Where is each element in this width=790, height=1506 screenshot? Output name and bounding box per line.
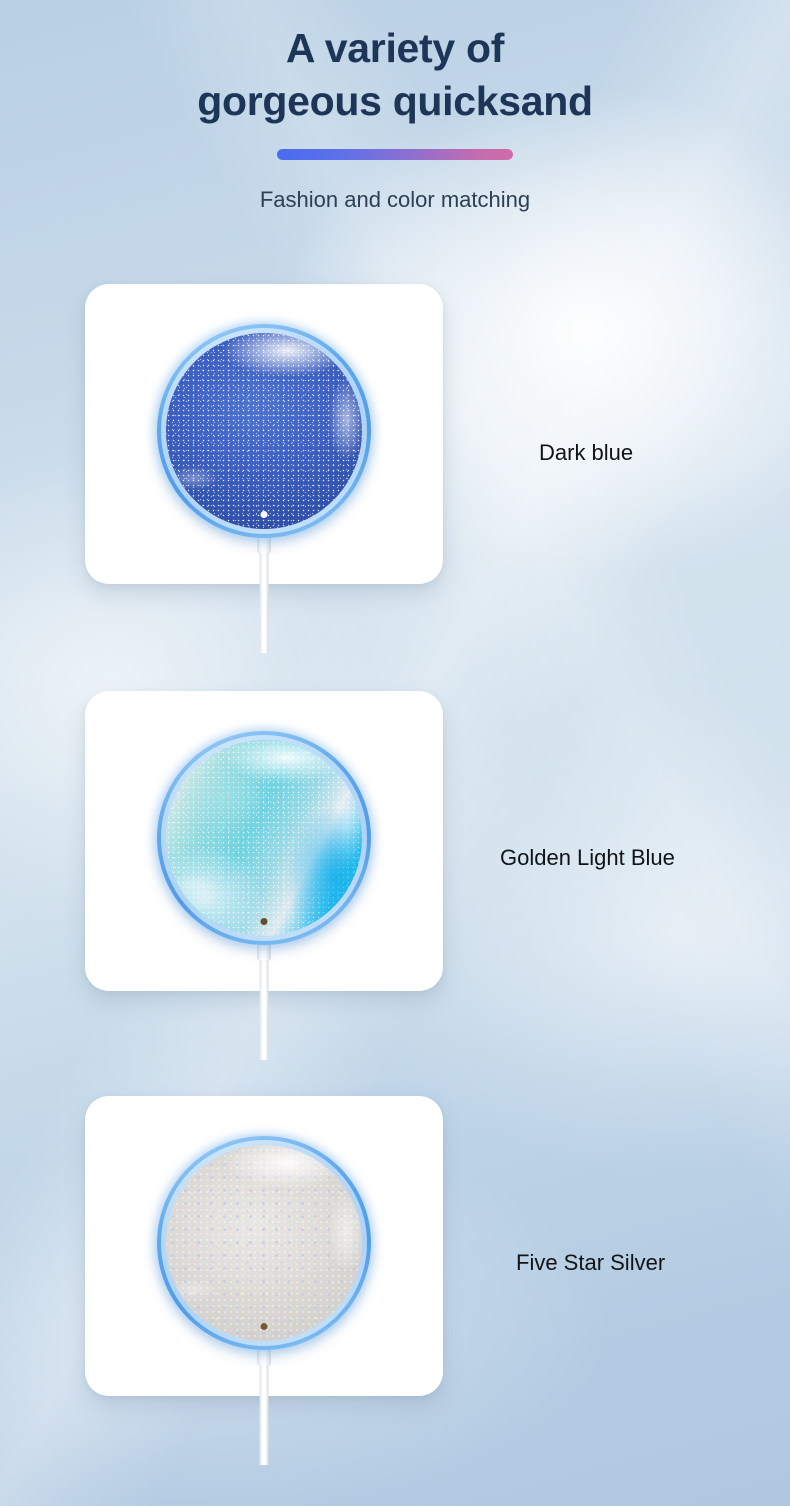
- indicator-led: [261, 511, 268, 518]
- product-card[interactable]: [85, 284, 443, 584]
- product-label: Golden Light Blue: [500, 845, 675, 871]
- product-label: Five Star Silver: [516, 1250, 665, 1276]
- charger-face: [166, 740, 362, 936]
- indicator-led: [261, 918, 268, 925]
- wireless-charger-puck: [157, 324, 371, 538]
- page-title: A variety of gorgeous quicksand: [0, 22, 790, 129]
- product-image: [85, 284, 443, 584]
- page-title-line-1: A variety of: [0, 22, 790, 75]
- glitter-texture: [166, 740, 362, 936]
- gloss-highlight: [166, 740, 362, 936]
- wireless-charger-puck: [157, 731, 371, 945]
- page-subtitle: Fashion and color matching: [0, 187, 790, 213]
- page-title-line-2: gorgeous quicksand: [0, 75, 790, 128]
- wireless-charger-puck: [157, 1136, 371, 1350]
- product-card[interactable]: [85, 1096, 443, 1396]
- product-card[interactable]: [85, 691, 443, 991]
- charger-face: [166, 1145, 362, 1341]
- title-underline-bar: [277, 149, 513, 160]
- product-showcase-page: A variety of gorgeous quicksand Fashion …: [0, 0, 790, 1506]
- gloss-highlight: [166, 333, 362, 529]
- page-header: A variety of gorgeous quicksand Fashion …: [0, 22, 790, 213]
- charger-cable: [260, 1365, 269, 1465]
- gloss-highlight: [166, 1145, 362, 1341]
- product-image: [85, 691, 443, 991]
- product-label: Dark blue: [539, 440, 633, 466]
- indicator-led: [261, 1323, 268, 1330]
- charger-face: [166, 333, 362, 529]
- charger-cable: [260, 553, 269, 653]
- charger-cable: [260, 960, 269, 1060]
- product-image: [85, 1096, 443, 1396]
